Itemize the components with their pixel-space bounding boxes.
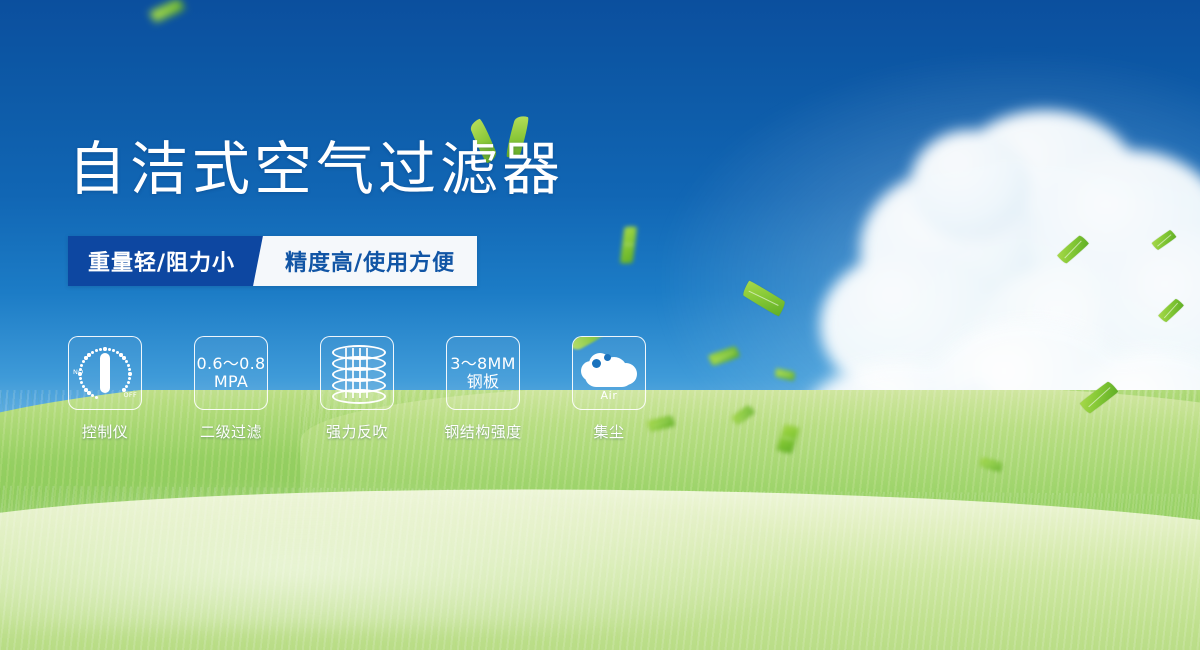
gauge-label-off: OFF xyxy=(124,391,138,399)
gauge-tick xyxy=(108,348,111,351)
gauge-tick xyxy=(128,368,131,371)
subtitle-right: 精度高/使用方便 xyxy=(279,236,477,286)
gauge-tick xyxy=(127,364,130,367)
feature-icon-box: NO OFF xyxy=(68,336,142,410)
gauge-needle xyxy=(100,353,110,393)
product-banner: 自洁式空气过滤器 重量轻/阻力小 精度高/使用方便 NO OFF 控制仪 0.6… xyxy=(0,0,1200,650)
air-label: Air xyxy=(579,389,639,402)
cloud-body xyxy=(585,365,633,387)
steel-plate-text-icon: 3〜8MM 钢板 xyxy=(450,355,515,391)
feature-icon-box: 3〜8MM 钢板 xyxy=(446,336,520,410)
gauge-tick xyxy=(128,377,131,380)
gauge-tick xyxy=(80,364,83,367)
pressure-line-2: MPA xyxy=(197,373,266,391)
gauge-tick xyxy=(128,372,131,375)
subtitle-divider xyxy=(253,236,279,286)
feature-item-dust-collection[interactable]: Air 集尘 xyxy=(572,336,646,442)
feature-item-two-stage-filter[interactable]: 0.6〜0.8 MPA 二级过滤 xyxy=(194,336,268,442)
gauge-tick xyxy=(95,396,98,399)
feature-icon-box: Air xyxy=(572,336,646,410)
gauge-tick xyxy=(87,353,90,356)
gauge-tick xyxy=(80,381,83,384)
gauge-tick xyxy=(84,356,87,359)
cloud-notch xyxy=(592,359,601,368)
feature-label: 控制仪 xyxy=(82,421,129,442)
feature-label: 二级过滤 xyxy=(200,421,262,442)
air-cloud-icon: Air xyxy=(579,345,639,401)
filter-cartridge-icon xyxy=(331,345,383,401)
gauge-tick xyxy=(127,381,130,384)
subtitle-left: 重量轻/阻力小 xyxy=(68,236,253,286)
pressure-text-icon: 0.6〜0.8 MPA xyxy=(197,355,266,391)
gauge-dial-icon: NO OFF xyxy=(74,344,136,402)
steel-line-1: 3〜8MM xyxy=(450,354,515,373)
feature-icon-box: 0.6〜0.8 MPA xyxy=(194,336,268,410)
gauge-tick xyxy=(95,349,98,352)
subtitle-bar: 重量轻/阻力小 精度高/使用方便 xyxy=(68,236,477,286)
feature-label: 强力反吹 xyxy=(326,421,388,442)
gauge-tick xyxy=(82,360,85,363)
gauge-tick xyxy=(91,394,94,397)
feature-list: NO OFF 控制仪 0.6〜0.8 MPA 二级过滤 xyxy=(68,336,646,442)
gauge-tick xyxy=(112,349,115,352)
feature-item-blowback[interactable]: 强力反吹 xyxy=(320,336,394,442)
feature-item-steel-strength[interactable]: 3〜8MM 钢板 钢结构强度 xyxy=(446,336,520,442)
feature-label: 钢结构强度 xyxy=(444,421,522,442)
gauge-tick xyxy=(91,351,94,354)
gauge-tick xyxy=(79,377,82,380)
cloud-notch xyxy=(604,354,611,361)
gauge-tick xyxy=(125,360,128,363)
page-title: 自洁式空气过滤器 xyxy=(68,140,564,198)
feature-label: 集尘 xyxy=(593,421,624,442)
feature-item-control-gauge[interactable]: NO OFF 控制仪 xyxy=(68,336,142,442)
gauge-tick xyxy=(119,353,122,356)
feature-icon-box xyxy=(320,336,394,410)
grass-highlight xyxy=(0,480,840,630)
gauge-tick xyxy=(103,347,106,350)
pressure-line-1: 0.6〜0.8 xyxy=(197,354,266,373)
steel-line-2: 钢板 xyxy=(450,373,515,391)
gauge-tick xyxy=(99,348,102,351)
gauge-tick xyxy=(125,385,128,388)
gauge-tick xyxy=(122,356,125,359)
gauge-label-no: NO xyxy=(73,368,84,376)
cartridge-ring xyxy=(332,389,386,404)
